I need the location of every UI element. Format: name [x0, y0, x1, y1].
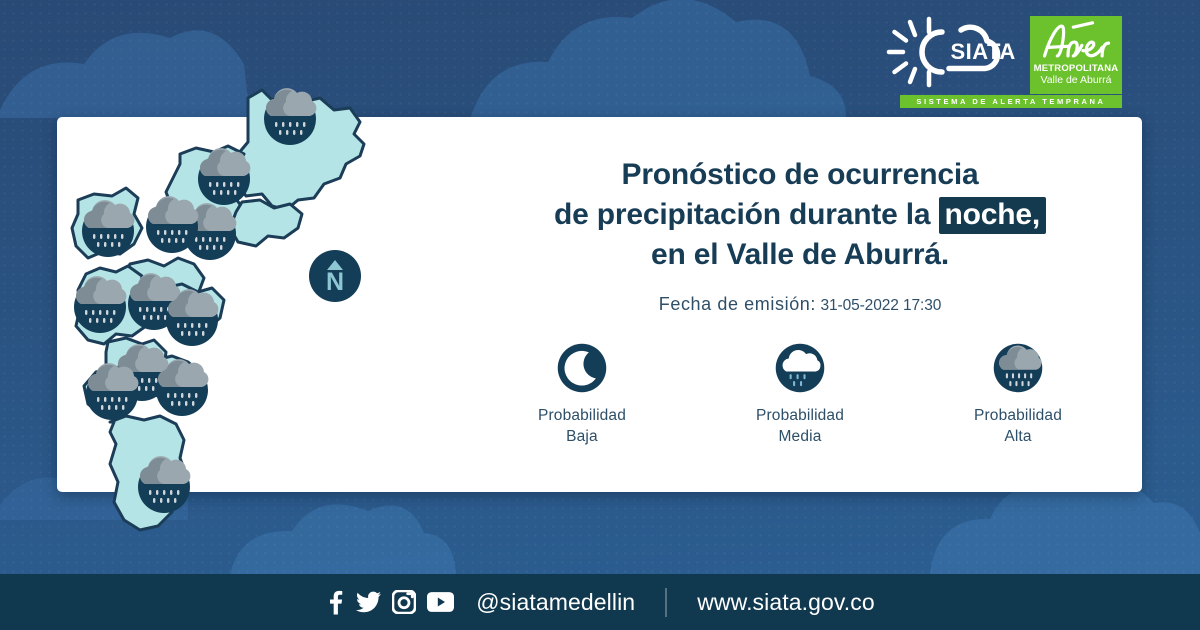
page-title: Pronóstico de ocurrencia de precipitació…: [470, 155, 1130, 275]
map-marker-barbosa: [264, 88, 316, 145]
title-highlight-noche: noche,: [939, 197, 1046, 234]
siata-tagline: SISTEMA DE ALERTA TEMPRANA: [916, 97, 1105, 106]
issue-date: Fecha de emisión: 31-05-2022 17:30: [470, 294, 1130, 315]
legend-label-media: Probabilidad Media: [756, 405, 844, 447]
siata-tagline-strip: SISTEMA DE ALERTA TEMPRANA: [900, 95, 1122, 108]
area-logo-line1: METROPOLITANA: [1034, 64, 1119, 74]
map-marker-barbosa-sw: [146, 196, 198, 253]
map-marker-la-estrella: [86, 363, 138, 420]
twitter-icon[interactable]: [356, 591, 381, 613]
legend-item-media: Probabilidad Media: [725, 342, 875, 447]
website-url[interactable]: www.siata.gov.co: [697, 589, 875, 616]
legend-media-line1: Probabilidad: [756, 405, 844, 426]
cloud-moon-rain-icon: [774, 342, 826, 394]
infographic-canvas: SIATA METROPOLITANA Valle de Aburrá SIST…: [0, 0, 1200, 630]
legend-media-line2: Media: [756, 426, 844, 447]
legend-item-alta: Probabilidad Alta: [943, 342, 1093, 447]
area-logo-line2: Valle de Aburrá: [1040, 74, 1111, 86]
legend-alta-line2: Alta: [974, 426, 1062, 447]
footer-divider: [665, 588, 667, 617]
title-line-2: de precipitación durante la noche,: [470, 195, 1130, 235]
municipality-copacabana: [230, 200, 302, 246]
legend-baja-line2: Baja: [538, 426, 626, 447]
cloud-rain-icon: [992, 342, 1044, 394]
legend-label-baja: Probabilidad Baja: [538, 405, 626, 447]
title-line-2-text: de precipitación durante la: [554, 198, 939, 231]
area-script-icon: [1036, 18, 1116, 64]
legend-baja-line1: Probabilidad: [538, 405, 626, 426]
legend-label-alta: Probabilidad Alta: [974, 405, 1062, 447]
siata-logo: SIATA: [886, 16, 1016, 88]
probability-legend: Probabilidad Baja: [470, 342, 1130, 447]
valle-de-aburra-map: N: [52, 42, 482, 572]
moon-icon: [556, 342, 608, 394]
logo-row: SIATA METROPOLITANA Valle de Aburrá: [886, 16, 1122, 94]
title-line-1: Pronóstico de ocurrencia: [470, 155, 1130, 195]
legend-alta-line1: Probabilidad: [974, 405, 1062, 426]
instagram-icon[interactable]: [392, 590, 416, 614]
legend-item-baja: Probabilidad Baja: [507, 342, 657, 447]
issue-date-value: 31-05-2022 17:30: [820, 297, 941, 314]
compass-rose: N: [309, 250, 361, 302]
footer-bar: @siatamedellin www.siata.gov.co: [0, 574, 1200, 630]
facebook-icon[interactable]: [325, 589, 345, 615]
issue-date-label: Fecha de emisión:: [659, 294, 816, 314]
title-line-3: en el Valle de Aburrá.: [470, 235, 1130, 275]
social-handle[interactable]: @siatamedellin: [476, 589, 635, 616]
social-icons: [325, 589, 454, 615]
svg-text:SIATA: SIATA: [951, 39, 1016, 64]
youtube-icon[interactable]: [427, 592, 454, 612]
forecast-content: Pronóstico de ocurrencia de precipitació…: [470, 155, 1130, 447]
area-metropolitana-logo: METROPOLITANA Valle de Aburrá: [1030, 16, 1122, 94]
map-svg: N: [52, 42, 482, 572]
compass-label: N: [326, 268, 344, 296]
